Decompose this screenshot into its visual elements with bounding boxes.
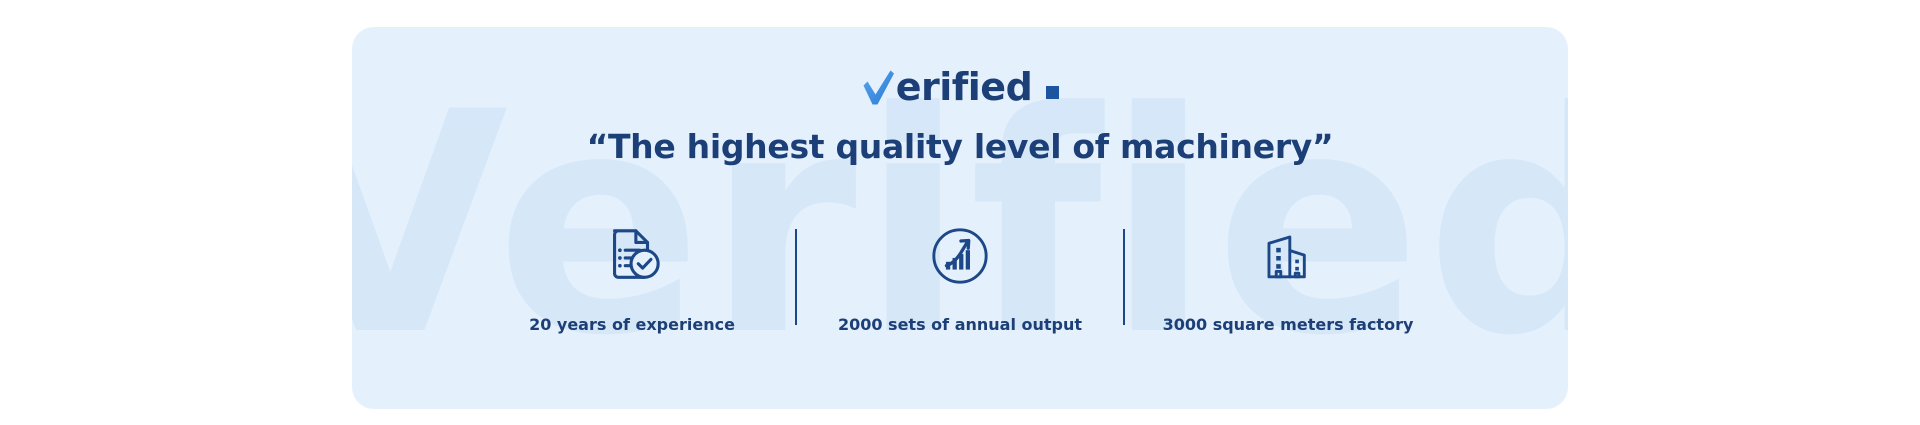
- document-check-icon: [601, 217, 663, 295]
- stat-label-output: 2000 sets of annual output: [838, 315, 1082, 334]
- check-mark-icon: [861, 67, 895, 107]
- stat-label-experience: 20 years of experience: [529, 315, 735, 334]
- banner-stage: Verified erified “The highest: [0, 0, 1920, 425]
- stat-item-output: 2000 sets of annual output: [797, 217, 1123, 335]
- brand-wordmark: erified: [896, 68, 1033, 106]
- stat-item-experience: 20 years of experience: [469, 217, 795, 335]
- page-title: “The highest quality level of machinery”: [352, 127, 1568, 166]
- factory-buildings-icon: [1259, 217, 1317, 295]
- stat-label-factory: 3000 square meters factory: [1163, 315, 1414, 334]
- square-badge-icon: [1046, 86, 1059, 99]
- stat-item-factory: 3000 square meters factory: [1125, 217, 1451, 335]
- stats-row: 20 years of experience: [352, 217, 1568, 335]
- banner-content: erified “The highest quality level of ma…: [352, 27, 1568, 409]
- brand-lockup: erified: [352, 67, 1568, 107]
- verified-banner-card: Verified erified “The highest: [352, 27, 1568, 409]
- growth-chart-circle-icon: [929, 217, 991, 295]
